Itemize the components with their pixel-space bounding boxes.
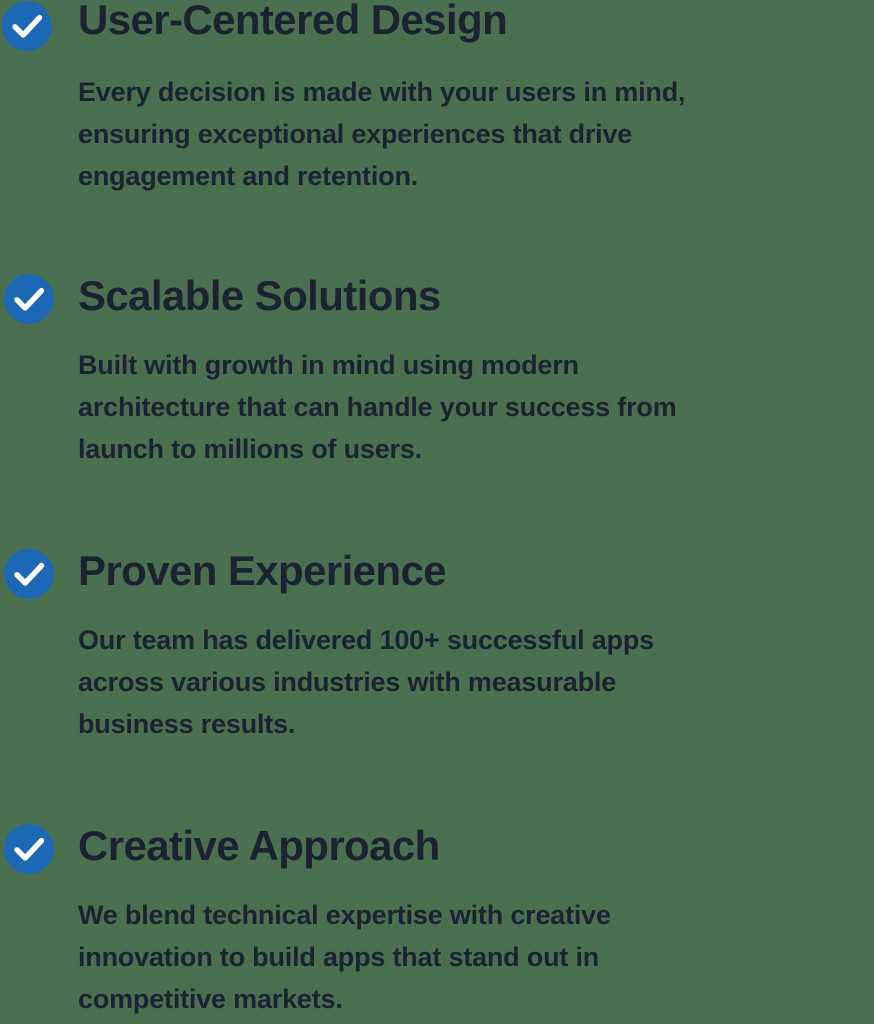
feature-description-line: architecture that can handle your succes… xyxy=(78,386,868,428)
feature-header: User-Centered Design xyxy=(0,0,874,58)
feature-item: Creative Approach We blend technical exp… xyxy=(0,824,874,882)
feature-description: Our team has delivered 100+ successful a… xyxy=(78,619,868,745)
feature-description-line: launch to millions of users. xyxy=(78,428,868,470)
check-circle-icon xyxy=(4,274,54,324)
feature-description: Every decision is made with your users i… xyxy=(78,71,868,197)
feature-list: User-Centered Design Every decision is m… xyxy=(0,0,874,1024)
check-circle-icon xyxy=(4,549,54,599)
feature-title: Scalable Solutions xyxy=(78,265,441,327)
feature-description-line: Our team has delivered 100+ successful a… xyxy=(78,619,868,661)
feature-description: We blend technical expertise with creati… xyxy=(78,894,868,1020)
feature-title: Creative Approach xyxy=(78,815,440,877)
feature-description-line: business results. xyxy=(78,703,868,745)
feature-description-line: engagement and retention. xyxy=(78,155,868,197)
feature-item: Proven Experience Our team has delivered… xyxy=(0,549,874,607)
feature-description-line: We blend technical expertise with creati… xyxy=(78,894,868,936)
feature-description: Built with growth in mind using modern a… xyxy=(78,344,868,470)
feature-item: User-Centered Design Every decision is m… xyxy=(0,0,874,58)
feature-description-line: innovation to build apps that stand out … xyxy=(78,936,868,978)
feature-title: User-Centered Design xyxy=(78,0,507,51)
feature-description-line: competitive markets. xyxy=(78,978,868,1020)
feature-description-line: ensuring exceptional experiences that dr… xyxy=(78,113,868,155)
check-circle-icon xyxy=(4,824,54,874)
feature-header: Proven Experience xyxy=(0,549,874,607)
feature-description-line: across various industries with measurabl… xyxy=(78,661,868,703)
check-circle-icon xyxy=(2,1,52,51)
feature-description-line: Built with growth in mind using modern xyxy=(78,344,868,386)
feature-item: Scalable Solutions Built with growth in … xyxy=(0,274,874,332)
feature-description-line: Every decision is made with your users i… xyxy=(78,71,868,113)
feature-header: Scalable Solutions xyxy=(0,274,874,332)
feature-header: Creative Approach xyxy=(0,824,874,882)
feature-title: Proven Experience xyxy=(78,540,446,602)
